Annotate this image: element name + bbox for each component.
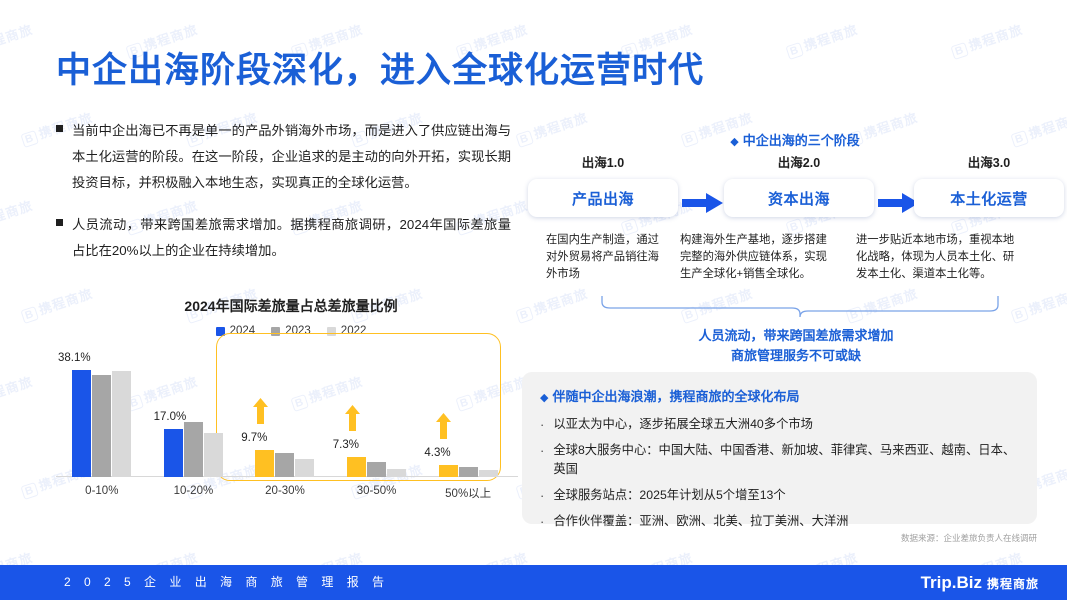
panel-item-text: 全球服务站点：2025年计划从5个增至13个 — [553, 486, 785, 505]
up-arrow-icon — [436, 413, 451, 439]
stage-1-box[interactable]: 产品出海 — [528, 179, 678, 217]
up-arrow-icon — [253, 398, 268, 424]
footer-report-title: 2 0 2 5 企 业 出 海 商 旅 管 理 报 告 — [64, 565, 389, 600]
bar-2022 — [112, 371, 131, 477]
up-arrow-icon — [345, 405, 360, 431]
watermark: B携程商旅 — [0, 195, 35, 236]
watermark: B携程商旅 — [514, 283, 590, 324]
stages-heading: ◆中企出海的三个阶段 — [730, 133, 859, 148]
stage-1-description: 在国内生产制造，通过对外贸易将产品销往海外市场 — [546, 232, 664, 283]
bar-2024 — [164, 429, 183, 477]
diamond-icon: ◆ — [730, 136, 738, 148]
bullet-dot-icon: · — [540, 441, 544, 479]
bar-2023 — [367, 462, 386, 477]
bar-2024 — [255, 450, 274, 477]
footer-brand-cn: 携程商旅 — [987, 577, 1039, 591]
stage-descriptions: 在国内生产制造，通过对外贸易将产品销往海外市场 构建海外生产基地，逐步搭建完整的… — [528, 232, 1064, 283]
slide-root: B携程商旅B携程商旅B携程商旅B携程商旅B携程商旅B携程商旅B携程商旅B携程商旅… — [0, 0, 1067, 600]
bar-group: 7.3% — [331, 343, 423, 477]
stage-3-box[interactable]: 本土化运营 — [914, 179, 1064, 217]
footer-brand: Trip.Biz携程商旅 — [921, 565, 1039, 602]
bar-value-label: 4.3% — [424, 447, 450, 459]
watermark: B携程商旅 — [949, 19, 1025, 60]
stage-2-label: 出海2.0 — [724, 152, 874, 171]
stage-3: 出海3.0 本土化运营 — [914, 152, 1064, 217]
chart-plot-area: 38.1%17.0%9.7%7.3%4.3% 0-10%10-20%20-30%… — [48, 343, 518, 503]
stages-heading-text: 中企出海的三个阶段 — [743, 133, 860, 148]
panel-item-text: 全球8大服务中心：中国大陆、中国香港、新加坡、菲律宾、马来西亚、越南、日本、英国 — [553, 441, 1019, 479]
panel-heading: ◆伴随中企出海浪潮，携程商旅的全球化布局 — [540, 386, 1019, 405]
bar-2022 — [295, 459, 314, 477]
source-note: 数据来源：企业差旅负责人在线调研 — [901, 532, 1037, 544]
bar-chart: 2024年国际差旅量占总差旅量比例 2024 2023 2022 38.1%17… — [48, 296, 518, 536]
x-axis-label: 20-30% — [239, 485, 331, 501]
panel-list-item: · 合作伙伴覆盖：亚洲、欧洲、北美、拉丁美洲、大洋洲 — [540, 512, 1019, 531]
stages-note: 人员流动，带来跨国差旅需求增加 商旅管理服务不可或缺 — [528, 326, 1064, 366]
bar-group: 17.0% — [148, 343, 240, 477]
global-layout-panel: ◆伴随中企出海浪潮，携程商旅的全球化布局 · 以亚太为中心，逐步拓展全球五大洲4… — [522, 372, 1037, 524]
chart-bar-groups: 38.1%17.0%9.7%7.3%4.3% — [56, 343, 514, 477]
chart-title: 2024年国际差旅量占总差旅量比例 — [48, 296, 518, 316]
stages-row: 出海1.0 产品出海 出海2.0 资本出海 出海3.0 本土化运营 — [528, 152, 1064, 230]
bullet-square-icon — [56, 125, 63, 132]
stage-1-label: 出海1.0 — [528, 152, 678, 171]
bar-2023 — [184, 422, 203, 477]
bar-2023 — [275, 453, 294, 477]
watermark: B携程商旅 — [784, 19, 860, 60]
bar-2024 — [72, 370, 91, 477]
footer-bar: 2 0 2 5 企 业 出 海 商 旅 管 理 报 告 Trip.Biz携程商旅 — [0, 565, 1067, 600]
stages-heading-wrap: ◆中企出海的三个阶段 — [530, 130, 1060, 150]
left-bullet-list: 当前中企出海已不再是单一的产品外销海外市场，而是进入了供应链出海与本土化运营的阶… — [56, 118, 511, 280]
bar-group: 38.1% — [56, 343, 148, 477]
stages-note-line2: 商旅管理服务不可或缺 — [528, 346, 1064, 366]
x-axis-label: 50%以上 — [422, 485, 514, 501]
bar-set — [162, 343, 224, 477]
bar-2022 — [479, 470, 498, 477]
bar-value-label: 7.3% — [333, 439, 359, 451]
stage-2: 出海2.0 资本出海 — [724, 152, 874, 217]
panel-item-text: 合作伙伴覆盖：亚洲、欧洲、北美、拉丁美洲、大洋洲 — [553, 512, 848, 531]
bullet-dot-icon: · — [540, 486, 544, 505]
stage-3-label: 出海3.0 — [914, 152, 1064, 171]
bullet-item: 当前中企出海已不再是单一的产品外销海外市场，而是进入了供应链出海与本土化运营的阶… — [56, 118, 511, 196]
bar-2024 — [347, 457, 366, 477]
chart-x-labels: 0-10%10-20%20-30%30-50%50%以上 — [56, 485, 514, 501]
diamond-icon: ◆ — [540, 392, 548, 404]
bullet-dot-icon: · — [540, 415, 544, 434]
bar-value-label: 9.7% — [241, 432, 267, 444]
bar-2023 — [459, 467, 478, 477]
stage-3-description: 进一步贴近本地市场，重视本地化战略，体现为人员本土化、研发本土化、渠道本土化等。 — [856, 232, 1016, 283]
page-title: 中企出海阶段深化，进入全球化运营时代 — [56, 42, 704, 93]
bar-value-label: 38.1% — [58, 352, 91, 364]
watermark: B携程商旅 — [0, 19, 35, 60]
watermark: B携程商旅 — [0, 371, 35, 412]
bar-group: 4.3% — [422, 343, 514, 477]
panel-list-item: · 全球服务站点：2025年计划从5个增至13个 — [540, 486, 1019, 505]
stages-diagram: 出海1.0 产品出海 出海2.0 资本出海 出海3.0 本土化运营 — [528, 152, 1064, 230]
panel-heading-text: 伴随中企出海浪潮，携程商旅的全球化布局 — [552, 389, 799, 404]
bullet-item: 人员流动，带来跨国差旅需求增加。据携程商旅调研，2024年国际差旅量占比在20%… — [56, 212, 511, 264]
bullet-text: 当前中企出海已不再是单一的产品外销海外市场，而是进入了供应链出海与本土化运营的阶… — [72, 118, 511, 196]
footer-brand-latin: Trip.Biz — [921, 573, 982, 592]
bar-2024 — [439, 465, 458, 477]
arrow-right-icon — [682, 191, 724, 215]
bar-group: 9.7% — [239, 343, 331, 477]
stage-1: 出海1.0 产品出海 — [528, 152, 678, 217]
x-axis-label: 30-50% — [331, 485, 423, 501]
bar-2023 — [92, 375, 111, 477]
panel-list-item: · 全球8大服务中心：中国大陆、中国香港、新加坡、菲律宾、马来西亚、越南、日本、… — [540, 441, 1019, 479]
stage-2-box[interactable]: 资本出海 — [724, 179, 874, 217]
bar-2022 — [387, 469, 406, 477]
panel-item-text: 以亚太为中心，逐步拓展全球五大洲40多个市场 — [553, 415, 813, 434]
panel-list-item: · 以亚太为中心，逐步拓展全球五大洲40多个市场 — [540, 415, 1019, 434]
x-axis-label: 10-20% — [148, 485, 240, 501]
bullet-text: 人员流动，带来跨国差旅需求增加。据携程商旅调研，2024年国际差旅量占比在20%… — [72, 212, 511, 264]
bullet-dot-icon: · — [540, 512, 544, 531]
stages-note-line1: 人员流动，带来跨国差旅需求增加 — [528, 326, 1064, 346]
stage-2-description: 构建海外生产基地，逐步搭建完整的海外供应链体系，实现生产全球化+销售全球化。 — [680, 232, 836, 283]
bar-2022 — [204, 433, 223, 477]
brace-icon — [600, 296, 1000, 318]
bar-value-label: 17.0% — [154, 411, 187, 423]
bullet-square-icon — [56, 219, 63, 226]
watermark: B携程商旅 — [1009, 283, 1067, 324]
x-axis-label: 0-10% — [56, 485, 148, 501]
